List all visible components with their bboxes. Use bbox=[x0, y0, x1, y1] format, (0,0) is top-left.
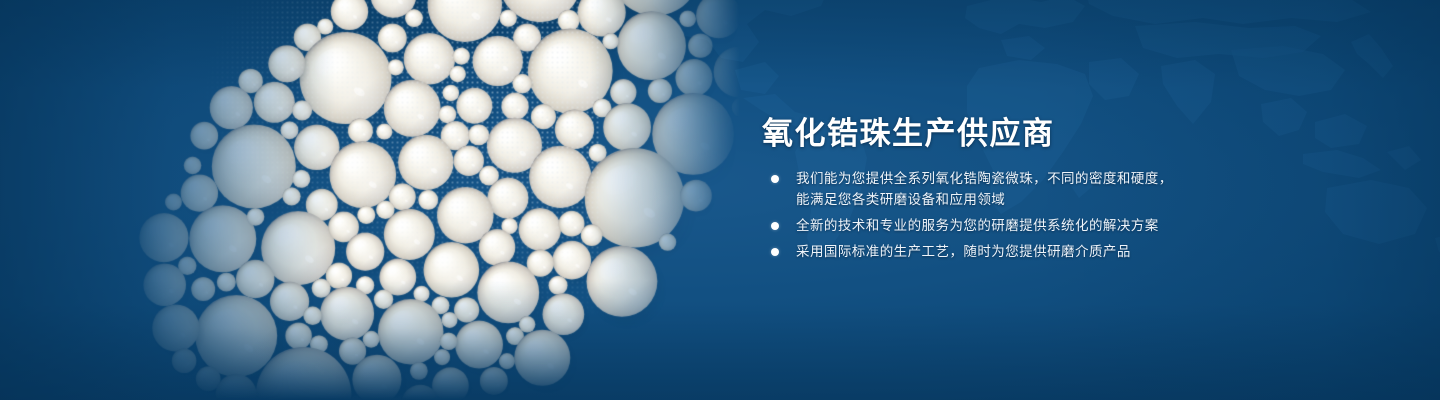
list-item-text: 全新的技术和专业的服务为您的研磨提供系统化的解决方案 bbox=[796, 215, 1236, 236]
beads-canvas bbox=[120, 0, 740, 400]
bullet-dot-icon bbox=[771, 248, 779, 256]
banner-content: 氧化锆珠生产供应商 我们能为您提供全系列氧化锆陶瓷微珠，不同的密度和硬度，能满足… bbox=[762, 0, 1362, 400]
page-title: 氧化锆珠生产供应商 bbox=[762, 108, 1055, 153]
list-item: 全新的技术和专业的服务为您的研磨提供系统化的解决方案 bbox=[766, 215, 1236, 236]
list-item-text: 采用国际标准的生产工艺，随时为您提供研磨介质产品 bbox=[796, 241, 1236, 262]
hero-banner: 氧化锆珠生产供应商 我们能为您提供全系列氧化锆陶瓷微珠，不同的密度和硬度，能满足… bbox=[0, 0, 1440, 400]
zirconia-beads-photo bbox=[120, 0, 740, 400]
list-item-text: 能满足您各类研磨设备和应用领域 bbox=[796, 189, 1236, 210]
list-item: 采用国际标准的生产工艺，随时为您提供研磨介质产品 bbox=[766, 241, 1236, 262]
bullet-dot-icon bbox=[771, 222, 779, 230]
list-item: 我们能为您提供全系列氧化锆陶瓷微珠，不同的密度和硬度，能满足您各类研磨设备和应用… bbox=[766, 168, 1236, 210]
feature-list: 我们能为您提供全系列氧化锆陶瓷微珠，不同的密度和硬度，能满足您各类研磨设备和应用… bbox=[766, 168, 1236, 267]
list-item-text: 我们能为您提供全系列氧化锆陶瓷微珠，不同的密度和硬度， bbox=[796, 168, 1236, 189]
bullet-dot-icon bbox=[771, 175, 779, 183]
